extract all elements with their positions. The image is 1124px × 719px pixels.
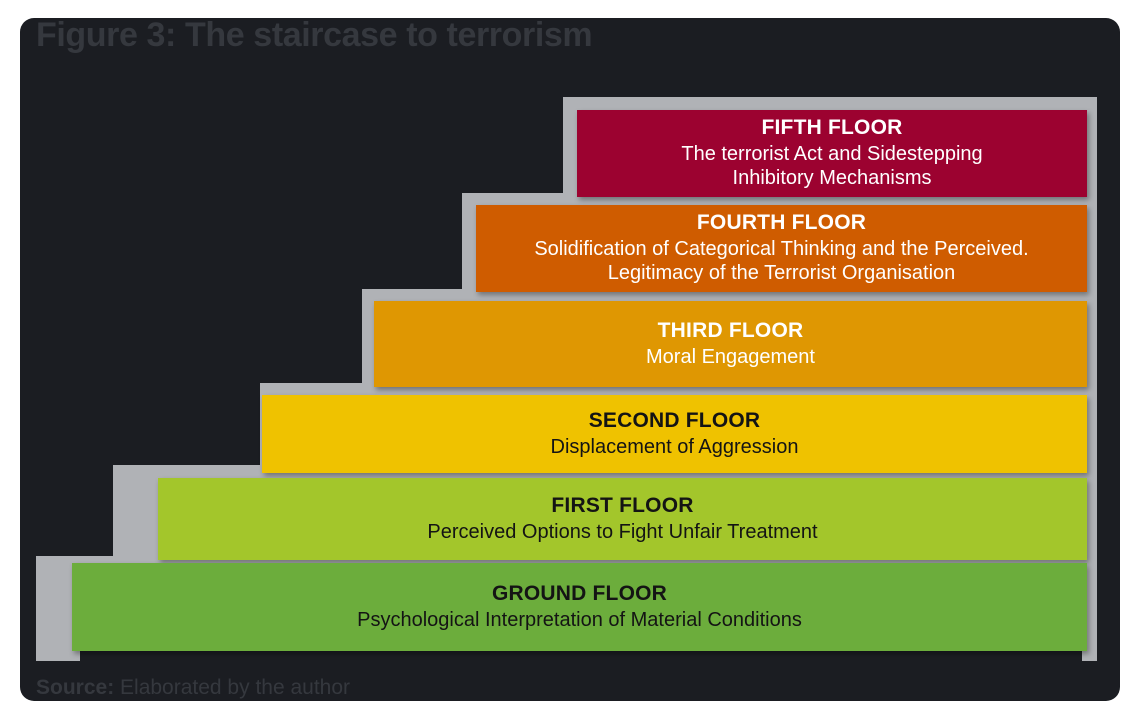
source-caption: Source: Elaborated by the author [36,676,350,700]
source-label: Source: [36,676,114,699]
floor-desc-fifth-line1: The terrorist Act and Sidestepping [671,142,992,166]
floor-block-second[interactable]: SECOND FLOOR Displacement of Aggression [262,395,1087,473]
floor-desc-second-line1: Displacement of Aggression [541,435,809,459]
floor-title-fifth: FIFTH FLOOR [761,116,902,141]
floor-block-fifth[interactable]: FIFTH FLOOR The terrorist Act and Sidest… [577,110,1087,197]
floor-title-second: SECOND FLOOR [589,409,761,434]
floor-desc-fourth-line2: Legitimacy of the Terrorist Organisation [598,261,966,285]
floor-title-ground: GROUND FLOOR [492,582,667,607]
staircase-diagram: FIFTH FLOOR The terrorist Act and Sidest… [0,0,1124,719]
floor-block-first[interactable]: FIRST FLOOR Perceived Options to Fight U… [158,478,1087,560]
figure-canvas: Figure 3: The staircase to terrorism FIF… [0,0,1124,719]
floor-block-third[interactable]: THIRD FLOOR Moral Engagement [374,301,1087,387]
floor-title-third: THIRD FLOOR [658,319,804,344]
floor-block-fourth[interactable]: FOURTH FLOOR Solidification of Categoric… [476,205,1087,292]
floor-desc-fourth-line1: Solidification of Categorical Thinking a… [524,237,1038,261]
floor-block-ground[interactable]: GROUND FLOOR Psychological Interpretatio… [72,563,1087,651]
floor-title-first: FIRST FLOOR [551,494,693,519]
floor-desc-fifth-line2: Inhibitory Mechanisms [723,166,942,190]
source-text: Elaborated by the author [114,676,350,699]
floor-desc-third-line1: Moral Engagement [636,345,825,369]
floor-desc-first-line1: Perceived Options to Fight Unfair Treatm… [417,520,827,544]
floor-title-fourth: FOURTH FLOOR [697,211,866,236]
floor-desc-ground-line1: Psychological Interpretation of Material… [347,608,812,632]
